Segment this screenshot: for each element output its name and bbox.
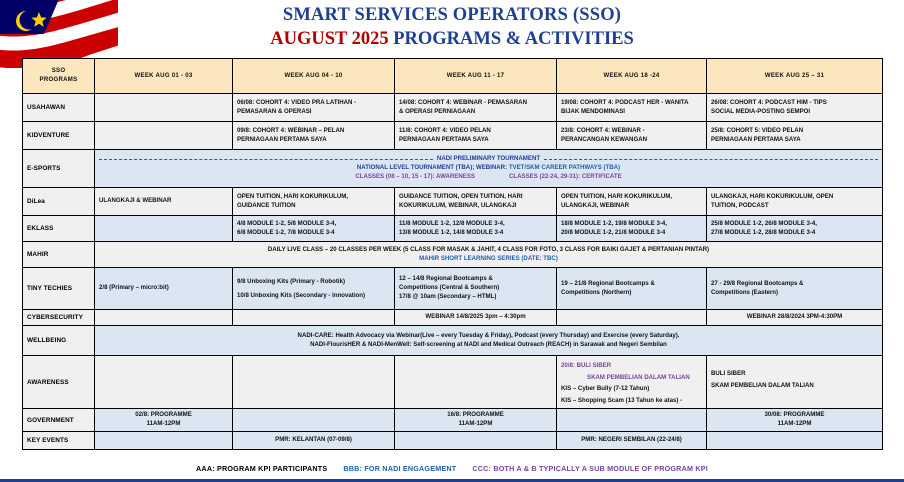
cell-text-line: OPEN TUITION, HARI KOKURIKULUM, [237, 193, 390, 202]
cell-wellbeing-all-weeks: NADI-CARE: Health Advocacy via Webinar(L… [95, 326, 883, 356]
table-row-kidventure: KIDVENTURE 09/8: COHORT 4: WEBINAR – PEL… [23, 122, 883, 150]
table-row-dilea: DiLea ULANGKAJI & WEBINAR OPEN TUITION, … [23, 188, 883, 216]
cell-cybersecurity-week5: WEBINAR 28/8/2024 3PM-4:30PM [707, 310, 883, 326]
cell-text-line: 23/8: COHORT 4: WEBINAR - [561, 127, 702, 136]
mahir-line1: DAILY LIVE CLASS – 20 CLASSES PER WEEK (… [99, 246, 878, 255]
cell-tiny-techies-week2: 9/8 Unboxing Kits (Primary - Robotik) 10… [233, 268, 395, 310]
cell-text-line: ULANGKAJI, HARI KOKURIKULUM, OPEN [711, 193, 878, 202]
row-label-esports: E-SPORTS [23, 150, 95, 188]
cell-dilea-week5: ULANGKAJI, HARI KOKURIKULUM, OPEN TUITIO… [707, 188, 883, 216]
cell-text-line: 30/08: PROGRAMME [711, 411, 878, 420]
cell-text-line: 9/8 Unboxing Kits (Primary - Robotik) [237, 275, 390, 288]
cell-text-line: 18/8 MODULE 1-2, 19/8 MODULE 3-4, [561, 220, 702, 229]
cell-usahawan-week3: 14/08: COHORT 4: WEBINAR - PEMASARAN & O… [395, 94, 557, 122]
table-row-tiny-techies: TINY TECHIES 2/8 (Primary – micro:bit) 9… [23, 268, 883, 310]
cell-key-events-week3 [395, 431, 557, 449]
cell-tiny-techies-week4: 19 – 21/8 Regional Bootcamps & Competiti… [557, 268, 707, 310]
cell-text-line: 14/08: COHORT 4: WEBINAR - PEMASARAN [399, 99, 552, 108]
table-row-eklass: EKLASS 4/8 MODULE 1-2, 5/8 MODULE 3-4, 6… [23, 216, 883, 242]
row-label-kidventure: KIDVENTURE [23, 122, 95, 150]
row-label-cybersecurity: CYBERSECURITY [23, 310, 95, 326]
cell-text-line: KIS – Cyber Bully (7-12 Tahun) [561, 383, 702, 395]
cell-text-line: 19 – 21/8 Regional Bootcamps & [561, 280, 702, 289]
table-row-esports: E-SPORTS NADI PRELIMINARY TOURNAMENT NAT… [23, 150, 883, 188]
legend-bbb: BBB: FOR NADI ENGAGEMENT [343, 464, 456, 473]
cell-text-line: PERNIAGAAN PERTAMA SAYA [237, 136, 390, 145]
cell-dilea-week4: OPEN TUITION, HARI KOKURIKULUM, ULANGKAJ… [557, 188, 707, 216]
cell-text-line: 09/8: COHORT 4: WEBINAR – PELAN [237, 127, 390, 136]
page-title-line1: SMART SERVICES OPERATORS (SSO) [283, 5, 621, 26]
cell-kidventure-week5: 25/8: COHORT 5: VIDEO PELAN PERNIAGAAN P… [707, 122, 883, 150]
cell-text-line: 10/8 Unboxing Kits (Secondary - Innovati… [237, 289, 390, 302]
cell-awareness-week1 [95, 356, 233, 409]
table-row-cybersecurity: CYBERSECURITY WEBINAR 14/8/2025 3pm – 4:… [23, 310, 883, 326]
cell-text-line: Competitions (Eastern) [711, 289, 878, 298]
cell-text-line: 06/08: COHORT 4: VIDEO PRA LATIHAN - [237, 99, 390, 108]
cell-government-week1: 02/8: PROGRAMME 11AM-12PM [95, 409, 233, 432]
cell-text-line: SKAM PEMBELIAN DALAM TALIAN [561, 372, 702, 384]
cell-text-line: PERNIAGAAN PERTAMA SAYA [399, 136, 552, 145]
cell-text-line: 20/8: BULI SIBER [561, 360, 702, 372]
cell-text-line: Competitions (Northern) [561, 289, 702, 298]
cell-usahawan-week2: 06/08: COHORT 4: VIDEO PRA LATIHAN - PEM… [233, 94, 395, 122]
row-label-awareness: AWARENESS [23, 356, 95, 409]
cell-key-events-week2: PMR: KELANTAN (07-09/8) [233, 431, 395, 449]
cell-text-line: 11/8: COHORT 4: VIDEO PELAN [399, 127, 552, 136]
page-header: SMART SERVICES OPERATORS (SSO) AUGUST 20… [0, 0, 904, 56]
cell-text-line: PERNIAGAAN PERTAMA SAYA [711, 136, 878, 145]
cell-text-line: TUITION, PODCAST [711, 202, 878, 211]
cell-text-line: PERANCANGAN KEWANGAN [561, 136, 702, 145]
cell-awareness-week2 [233, 356, 395, 409]
column-header-week4: WEEK AUG 18 -24 [557, 59, 707, 94]
legend-footer: AAA: PROGRAM KPI PARTICIPANTS BBB: FOR N… [22, 458, 882, 478]
esports-line2: NATIONAL LEVEL TOURNAMENT (TBA); WEBINAR… [99, 164, 878, 173]
table-row-awareness: AWARENESS 20/8: BULI SIBER SKAM PEMBELIA… [23, 356, 883, 409]
cell-kidventure-week3: 11/8: COHORT 4: VIDEO PELAN PERNIAGAAN P… [395, 122, 557, 150]
cell-eklass-week1 [95, 216, 233, 242]
cell-tiny-techies-week1: 2/8 (Primary – micro:bit) [95, 268, 233, 310]
cell-kidventure-week4: 23/8: COHORT 4: WEBINAR - PERANCANGAN KE… [557, 122, 707, 150]
cell-text-line: GUIDANCE TUITION [237, 202, 390, 211]
cell-tiny-techies-week3: 12 – 14/8 Regional Bootcamps & Competiti… [395, 268, 557, 310]
table-header-row: SSO PROGRAMS WEEK AUG 01 - 03 WEEK AUG 0… [23, 59, 883, 94]
cell-text-line: 11AM-12PM [399, 420, 552, 429]
esports-line2-dark: NATIONAL LEVEL TOURNAMENT (TBA); WEBINAR… [357, 164, 507, 171]
cell-government-week4 [557, 409, 707, 432]
cell-text-line: 13/8 MODULE 1-2, 14/8 MODULE 3-4 [399, 229, 552, 238]
cell-usahawan-week1 [95, 94, 233, 122]
cell-kidventure-week1 [95, 122, 233, 150]
column-header-week2: WEEK AUG 04 - 10 [233, 59, 395, 94]
cell-text-line: 19/08: COHORT 4: PODCAST HER - WANITA [561, 99, 702, 108]
dash-rule-left [99, 159, 433, 160]
page-title-suffix: PROGRAMS & ACTIVITIES [393, 29, 634, 49]
cell-text-line: 16/8: PROGRAMME [399, 411, 552, 420]
esports-line1: NADI PRELIMINARY TOURNAMENT [437, 155, 540, 164]
cell-kidventure-week2: 09/8: COHORT 4: WEBINAR – PELAN PERNIAGA… [233, 122, 395, 150]
cell-text-line: 11AM-12PM [711, 420, 878, 429]
esports-classes-a: CLASSES (08 – 10, 15 - 17): AWARENESS [355, 173, 475, 182]
cell-text-line: GUIDANCE TUITION, OPEN TUITION, HARI [399, 193, 552, 202]
cell-text-line: 6/8 MODULE 1-2, 7/8 MODULE 3-4 [237, 229, 390, 238]
esports-classes-b: CLASSES (22-24, 29-31): CERTIFICATE [509, 173, 622, 182]
row-label-wellbeing: WELLBEING [23, 326, 95, 356]
legend-aaa: AAA: PROGRAM KPI PARTICIPANTS [196, 464, 327, 473]
cell-text-line: KIS – Shopping Scam (13 Tahun ke atas) - [561, 395, 702, 407]
cell-eklass-week3: 11/8 MODULE 1-2, 12/8 MODULE 3-4, 13/8 M… [395, 216, 557, 242]
cell-dilea-week3: GUIDANCE TUITION, OPEN TUITION, HARI KOK… [395, 188, 557, 216]
cell-dilea-week2: OPEN TUITION, HARI KOKURIKULUM, GUIDANCE… [233, 188, 395, 216]
cell-awareness-week4: 20/8: BULI SIBER SKAM PEMBELIAN DALAM TA… [557, 356, 707, 409]
cell-cybersecurity-week2 [233, 310, 395, 326]
cell-key-events-week1 [95, 431, 233, 449]
column-header-week5: WEEK AUG 25 – 31 [707, 59, 883, 94]
table-row-wellbeing: WELLBEING NADI-CARE: Health Advocacy via… [23, 326, 883, 356]
cell-government-week5: 30/08: PROGRAMME 11AM-12PM [707, 409, 883, 432]
cell-text-line: 11AM-12PM [99, 420, 228, 429]
cell-government-week3: 16/8: PROGRAMME 11AM-12PM [395, 409, 557, 432]
cell-text-line: Competitions (Central & Southern) [399, 284, 552, 293]
column-header-programs-line1: SSO [27, 67, 90, 76]
cell-tiny-techies-week5: 27 - 29/8 Regional Bootcamps & Competiti… [707, 268, 883, 310]
row-label-tiny-techies: TINY TECHIES [23, 268, 95, 310]
cell-text-line: BULI SIBER [711, 368, 878, 380]
table-row-usahawan: USAHAWAN 06/08: COHORT 4: VIDEO PRA LATI… [23, 94, 883, 122]
cell-key-events-week5 [707, 431, 883, 449]
cell-text-line: 12 – 14/8 Regional Bootcamps & [399, 275, 552, 284]
cell-eklass-week5: 25/8 MODULE 1-2, 26/8 MODULE 3-4, 27/8 M… [707, 216, 883, 242]
row-label-mahir: MAHIR [23, 242, 95, 268]
cell-text-line: 02/8: PROGRAMME [99, 411, 228, 420]
table-row-mahir: MAHIR DAILY LIVE CLASS – 20 CLASSES PER … [23, 242, 883, 268]
cell-text-line: 26/08: COHORT 4: PODCAST HIM - TIPS [711, 99, 878, 108]
cell-cybersecurity-week1 [95, 310, 233, 326]
mahir-line2: MAHIR SHORT LEARNING SERIES (DATE: TBC) [99, 255, 878, 264]
cell-text-line: PEMASARAN & OPERASI [237, 108, 390, 117]
cell-text-line: SOCIAL MEDIA-POSTING SEMPOI [711, 108, 878, 117]
wellbeing-line2: NADI-FlourisHER & NADI-MenWell: Self-scr… [99, 341, 878, 350]
esports-line2-blue: TVET/SKM CAREER PATHWAYS (TBA) [509, 164, 620, 171]
legend-ccc: CCC: BOTH A & B TYPICALLY A SUB MODULE O… [472, 464, 708, 473]
column-header-programs: SSO PROGRAMS [23, 59, 95, 94]
cell-dilea-week1: ULANGKAJI & WEBINAR [95, 188, 233, 216]
column-header-programs-line2: PROGRAMS [27, 76, 90, 85]
table-row-government: GOVERNMENT 02/8: PROGRAMME 11AM-12PM 16/… [23, 409, 883, 432]
cell-key-events-week4: PMR: NEGERI SEMBILAN (22-24/8) [557, 431, 707, 449]
page-title-month: AUGUST 2025 [270, 29, 388, 49]
cell-usahawan-week4: 19/08: COHORT 4: PODCAST HER - WANITA BI… [557, 94, 707, 122]
cell-awareness-week5: BULI SIBER SKAM PEMBELIAN DALAM TALIAN [707, 356, 883, 409]
cell-text-line: BIJAK MENDOMINASI [561, 108, 702, 117]
row-label-government: GOVERNMENT [23, 409, 95, 432]
cell-text-line: 20/8 MODULE 1-2, 21/8 MODULE 3-4 [561, 229, 702, 238]
cell-text-line: 25/8: COHORT 5: VIDEO PELAN [711, 127, 878, 136]
row-label-eklass: EKLASS [23, 216, 95, 242]
row-label-usahawan: USAHAWAN [23, 94, 95, 122]
esports-line3: CLASSES (08 – 10, 15 - 17): AWARENESS CL… [99, 173, 878, 182]
schedule-table: SSO PROGRAMS WEEK AUG 01 - 03 WEEK AUG 0… [22, 58, 883, 450]
dash-rule-right [544, 159, 878, 160]
row-label-key-events: KEY EVENTS [23, 431, 95, 449]
cell-text-line: 4/8 MODULE 1-2, 5/8 MODULE 3-4, [237, 220, 390, 229]
cell-text-line: ULANGKAJI, WEBINAR [561, 202, 702, 211]
cell-esports-all-weeks: NADI PRELIMINARY TOURNAMENT NATIONAL LEV… [95, 150, 883, 188]
cell-usahawan-week5: 26/08: COHORT 4: PODCAST HIM - TIPS SOCI… [707, 94, 883, 122]
cell-text-line: 25/8 MODULE 1-2, 26/8 MODULE 3-4, [711, 220, 878, 229]
esports-tournament-banner: NADI PRELIMINARY TOURNAMENT [99, 155, 878, 164]
cell-eklass-week4: 18/8 MODULE 1-2, 19/8 MODULE 3-4, 20/8 M… [557, 216, 707, 242]
cell-text-line: & OPERASI PERNIAGAAN [399, 108, 552, 117]
cell-text-line: 27/8 MODULE 1-2, 28/8 MODULE 3-4 [711, 229, 878, 238]
cell-text-line: KOKURIKULUM, WEBINAR, ULANGKAJI [399, 202, 552, 211]
cell-text-line: 11/8 MODULE 1-2, 12/8 MODULE 3-4, [399, 220, 552, 229]
row-label-dilea: DiLea [23, 188, 95, 216]
cell-text-line: OPEN TUITION, HARI KOKURIKULUM, [561, 193, 702, 202]
cell-text-line: 27 - 29/8 Regional Bootcamps & [711, 280, 878, 289]
cell-government-week2 [233, 409, 395, 432]
column-header-week3: WEEK AUG 11 - 17 [395, 59, 557, 94]
cell-cybersecurity-week4 [557, 310, 707, 326]
page-title-line2: AUGUST 2025 PROGRAMS & ACTIVITIES [270, 28, 634, 51]
cell-mahir-all-weeks: DAILY LIVE CLASS – 20 CLASSES PER WEEK (… [95, 242, 883, 268]
cell-text-line: SKAM PEMBELIAN DALAM TALIAN [711, 380, 878, 392]
table-row-key-events: KEY EVENTS PMR: KELANTAN (07-09/8) PMR: … [23, 431, 883, 449]
cell-text-line: 17/8 @ 10am (Secondary – HTML) [399, 293, 552, 302]
wellbeing-line1: NADI-CARE: Health Advocacy via Webinar(L… [99, 332, 878, 341]
cell-eklass-week2: 4/8 MODULE 1-2, 5/8 MODULE 3-4, 6/8 MODU… [233, 216, 395, 242]
cell-awareness-week3 [395, 356, 557, 409]
column-header-week1: WEEK AUG 01 - 03 [95, 59, 233, 94]
cell-cybersecurity-week3: WEBINAR 14/8/2025 3pm – 4:30pm [395, 310, 557, 326]
